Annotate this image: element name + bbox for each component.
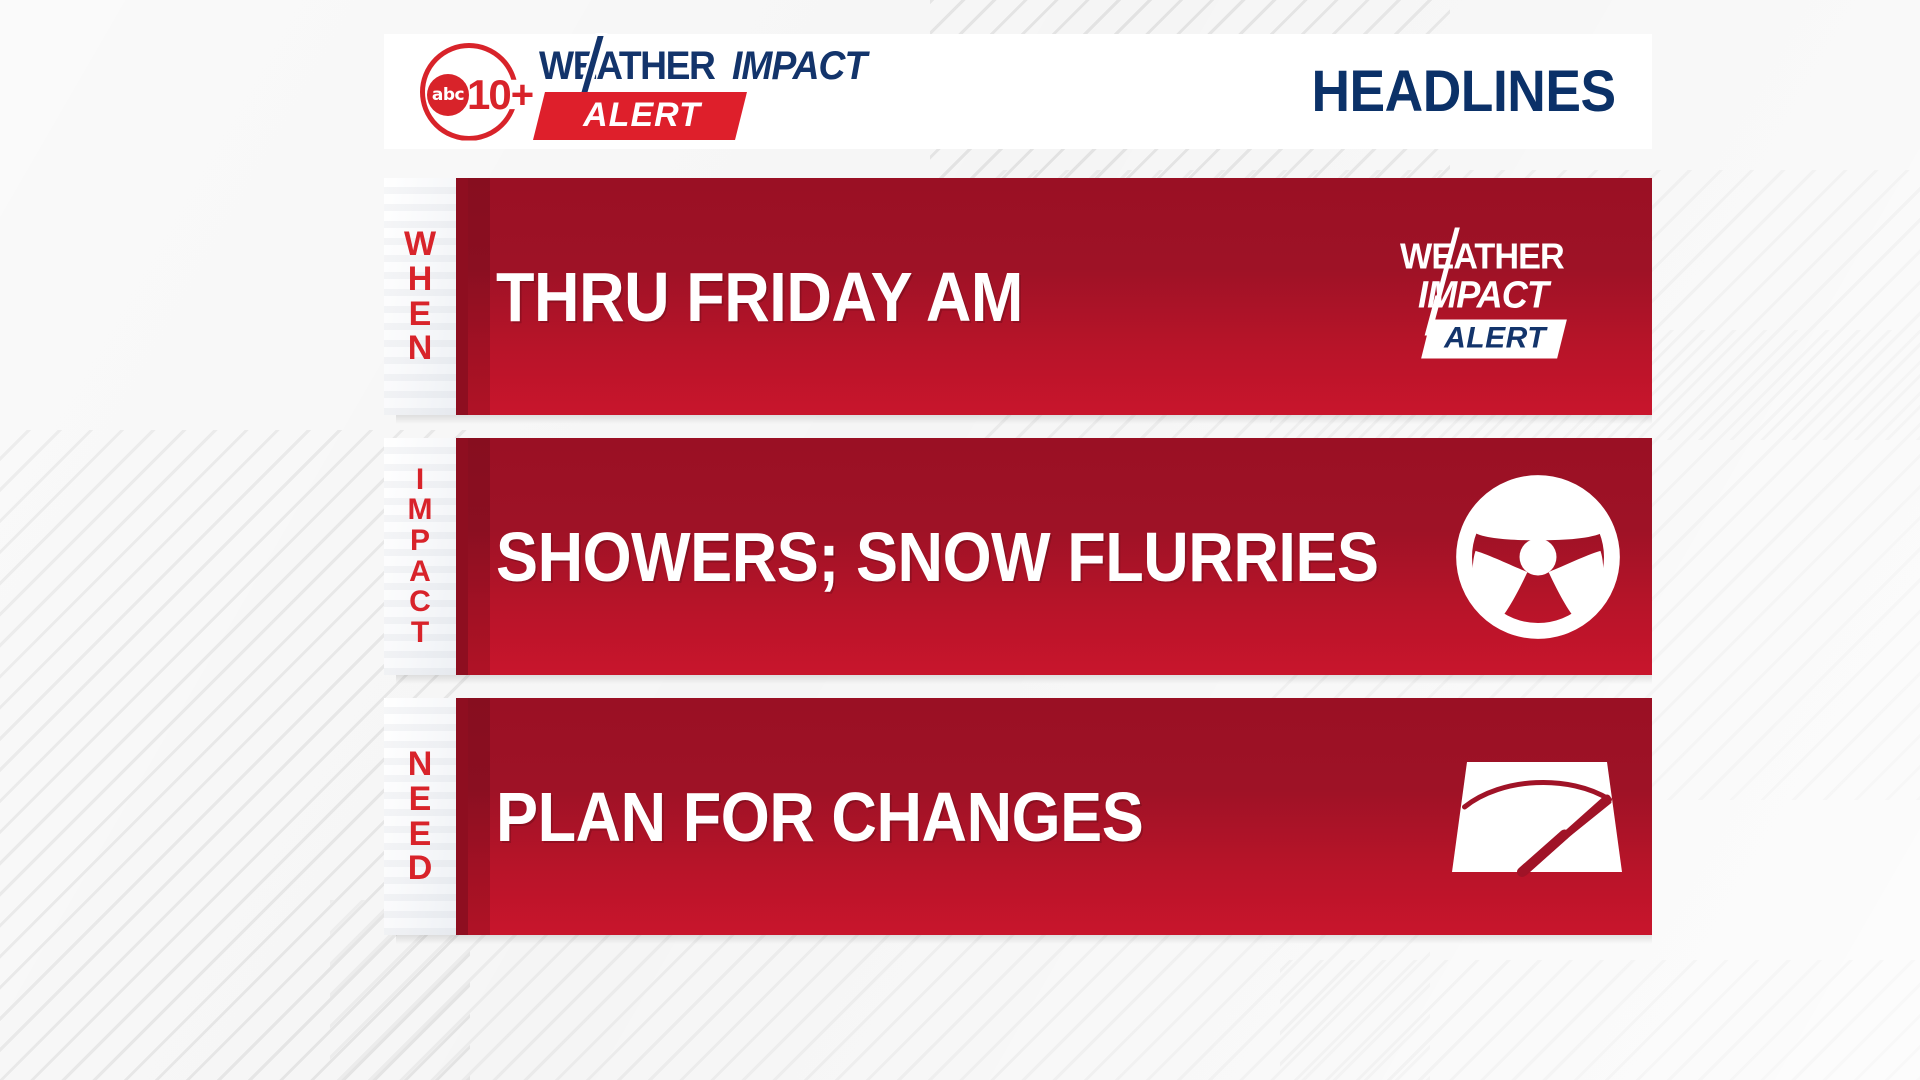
- headline-bar: SHOWERS; SNOW FLURRIES: [456, 438, 1652, 675]
- headline-text: THRU FRIDAY AM: [496, 257, 1023, 337]
- row-label-impact: I M P A C T: [384, 438, 456, 675]
- row-label-letters: W H E N: [404, 227, 436, 366]
- abc10-plus-logo-icon: abc 10 +: [417, 40, 521, 144]
- row-label-need: N E E D: [384, 698, 456, 935]
- windshield-wiper-icon: [1448, 757, 1626, 877]
- label-letter: C: [408, 587, 433, 618]
- abc-circle: abc: [427, 74, 469, 116]
- label-letter: T: [408, 618, 433, 649]
- weather-impact-alert-logo: WEATHER IMPACT ALERT: [539, 44, 876, 140]
- brand-line-1: WEATHER IMPACT: [539, 44, 876, 89]
- row-label-letters: N E E D: [408, 747, 433, 886]
- weather-impact-alert-badge-icon: WEATHER IMPACT ALERT: [1400, 235, 1626, 358]
- headline-bar: PLAN FOR CHANGES: [456, 698, 1652, 935]
- headline-bar: THRU FRIDAY AM WEATHER IMPACT ALERT: [456, 178, 1652, 415]
- row-label-letters: I M P A C T: [408, 465, 433, 649]
- label-letter: D: [408, 851, 433, 886]
- alert-badge: WEATHER IMPACT ALERT: [1400, 235, 1626, 358]
- label-letter: E: [408, 817, 433, 852]
- steering-wheel-icon: [1450, 469, 1626, 645]
- label-letter: N: [408, 747, 433, 782]
- badge-alert-text: ALERT: [1444, 321, 1546, 355]
- headline-text: SHOWERS; SNOW FLURRIES: [496, 517, 1379, 597]
- label-letter: N: [404, 331, 436, 366]
- badge-line-1: WEATHER IMPACT: [1400, 235, 1626, 317]
- badge-impact-text: IMPACT: [1418, 274, 1616, 317]
- label-letter: H: [404, 262, 436, 297]
- label-letter: I: [408, 465, 433, 496]
- headline-row-impact: I M P A C T SHOWERS; SNOW FLURRIES: [384, 438, 1652, 675]
- badge-weather-text: WEATHER: [1400, 235, 1615, 277]
- headline-row-need: N E E D PLAN FOR CHANGES: [384, 698, 1652, 935]
- brand-alert-text: ALERT: [583, 96, 701, 135]
- headline-text: PLAN FOR CHANGES: [496, 777, 1143, 857]
- row-shadow: [396, 415, 1652, 424]
- label-letter: E: [408, 782, 433, 817]
- row-shadow: [396, 935, 1652, 944]
- page-title: HEADLINES: [1312, 58, 1616, 125]
- badge-line-2-banner: ALERT: [1421, 319, 1567, 358]
- station-logo: abc 10 + WEATHER IMPACT ALERT: [417, 40, 876, 144]
- brand-impact-text: IMPACT: [732, 44, 866, 89]
- label-letter: P: [408, 526, 433, 557]
- abc-label: abc: [432, 85, 464, 105]
- brand-weather-text: WEATHER: [539, 44, 715, 89]
- label-letter: W: [404, 227, 436, 262]
- row-shadow: [396, 675, 1652, 684]
- label-letter: E: [404, 297, 436, 332]
- row-label-when: W H E N: [384, 178, 456, 415]
- logo-inner: abc 10 +: [427, 74, 534, 116]
- label-letter: M: [408, 495, 433, 526]
- brand-line-2-banner: ALERT: [533, 92, 747, 140]
- headline-row-when: W H E N THRU FRIDAY AM WEATHER IMPACT AL…: [384, 178, 1652, 415]
- header-bar: abc 10 + WEATHER IMPACT ALERT HEADLINES: [384, 34, 1652, 149]
- label-letter: A: [408, 557, 433, 588]
- channel-number: 10: [467, 75, 510, 115]
- plus-sign: +: [511, 76, 534, 114]
